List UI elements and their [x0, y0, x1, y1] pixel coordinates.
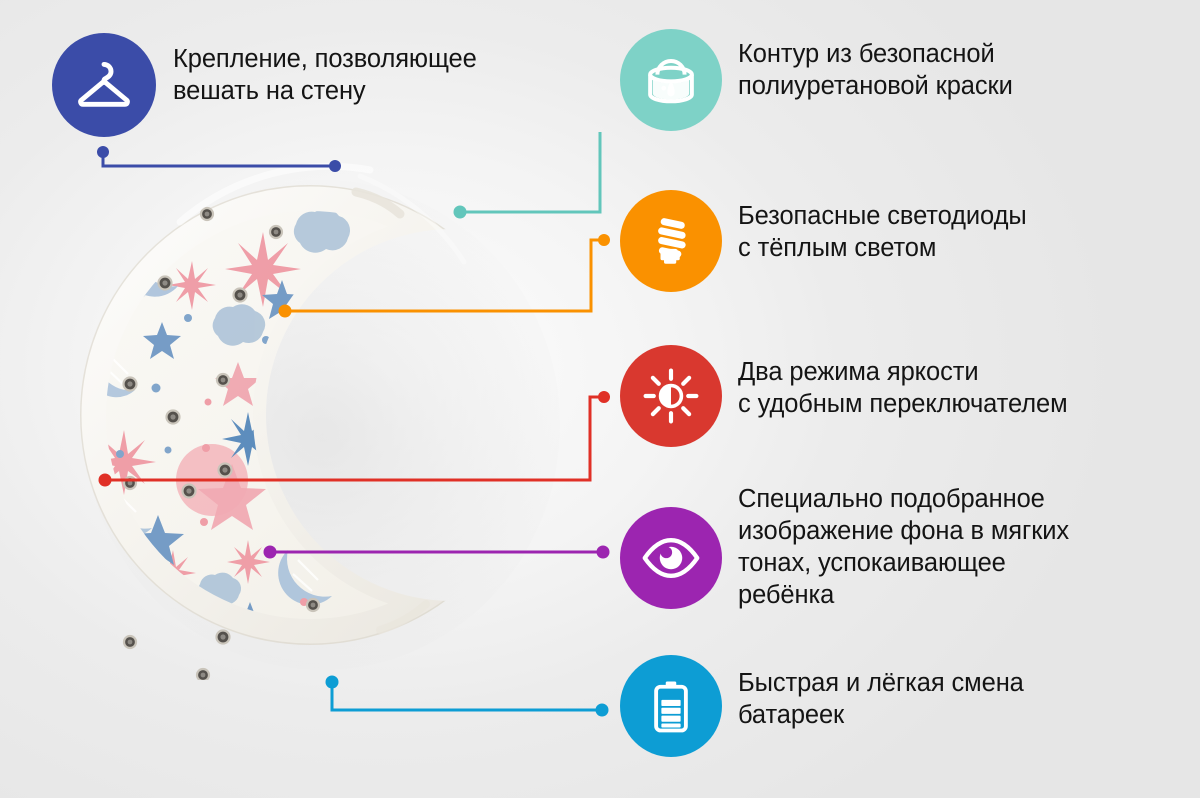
product-image-moon-lamp	[60, 150, 580, 680]
feature-brightness: Два режима яркости с удобным переключате…	[620, 345, 1068, 447]
feature-mount-text: Крепление, позволяющее вешать на стену	[173, 43, 477, 107]
feature-mount: Крепление, позволяющее вешать на стену	[52, 33, 477, 137]
feature-paint: Контур из безопасной полиуретановой крас…	[620, 29, 1013, 131]
feature-artwork-text: Специально подобранное изображение фона …	[738, 483, 1069, 612]
cfl-bulb-icon	[643, 213, 699, 269]
hanger-icon	[74, 55, 134, 115]
feature-paint-badge	[620, 29, 722, 131]
feature-artwork: Специально подобранное изображение фона …	[620, 495, 1069, 612]
paint-bucket-icon	[642, 51, 700, 109]
battery-icon	[643, 678, 699, 734]
feature-brightness-text: Два режима яркости с удобным переключате…	[738, 356, 1068, 420]
feature-paint-text: Контур из безопасной полиуретановой крас…	[738, 38, 1013, 102]
feature-battery: Быстрая и лёгкая смена батареек	[620, 655, 1024, 757]
feature-battery-badge	[620, 655, 722, 757]
brightness-sun-icon	[642, 367, 700, 425]
feature-leds: Безопасные светодиоды с тёплым светом	[620, 190, 1027, 292]
feature-battery-text: Быстрая и лёгкая смена батареек	[738, 667, 1024, 731]
feature-leds-text: Безопасные светодиоды с тёплым светом	[738, 200, 1027, 264]
feature-leds-badge	[620, 190, 722, 292]
feature-artwork-badge	[620, 507, 722, 609]
feature-brightness-badge	[620, 345, 722, 447]
infographic-canvas: Крепление, позволяющее вешать на стену	[0, 0, 1200, 798]
eye-icon	[641, 528, 701, 588]
connector-battery	[326, 676, 609, 717]
feature-mount-badge	[52, 33, 156, 137]
